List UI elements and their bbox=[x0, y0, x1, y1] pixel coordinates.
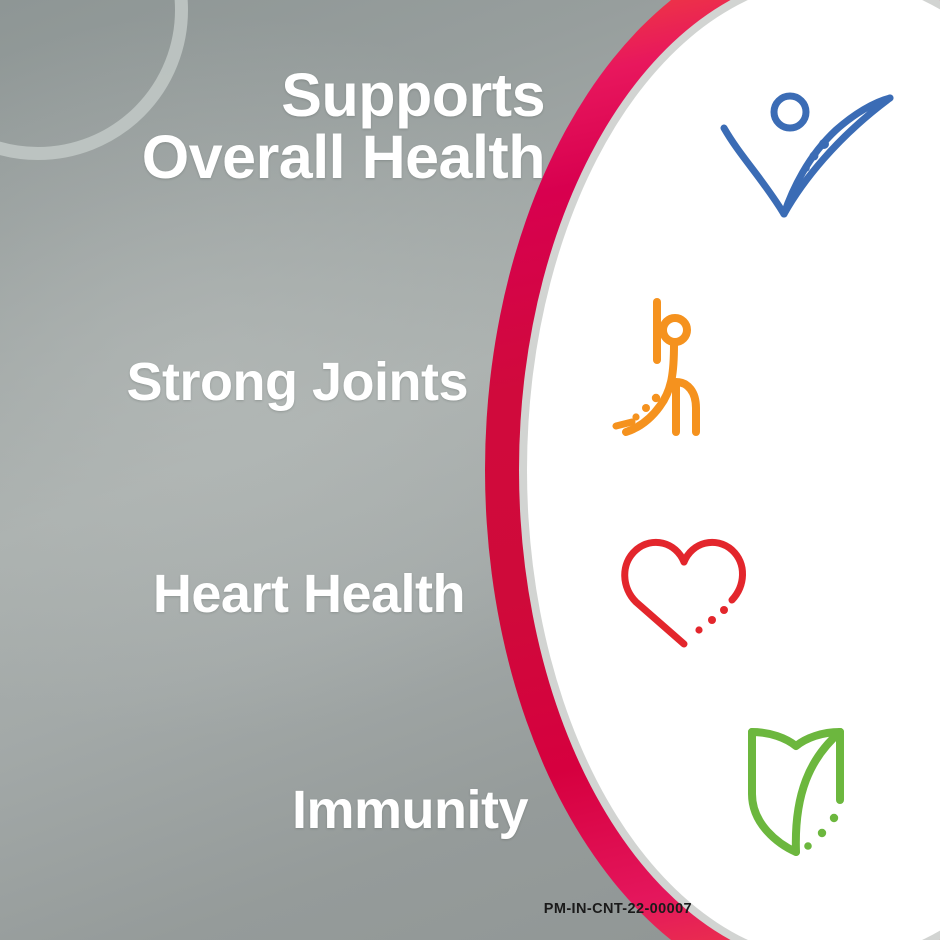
promo-graphic: Supports Overall Health Strong Joints He… bbox=[0, 0, 940, 940]
person-raised-arms-icon bbox=[718, 86, 898, 226]
benefit-label-immunity: Immunity bbox=[0, 783, 528, 838]
heart-icon bbox=[614, 532, 754, 652]
benefit-label-strong-joints: Strong Joints bbox=[0, 355, 468, 410]
shield-icon bbox=[736, 720, 866, 860]
benefit-label-overall-health: Supports Overall Health bbox=[0, 64, 545, 188]
reference-code: PM-IN-CNT-22-00007 bbox=[0, 901, 692, 917]
benefit-label-heart-health: Heart Health bbox=[0, 567, 465, 622]
running-figure-icon bbox=[612, 286, 732, 446]
